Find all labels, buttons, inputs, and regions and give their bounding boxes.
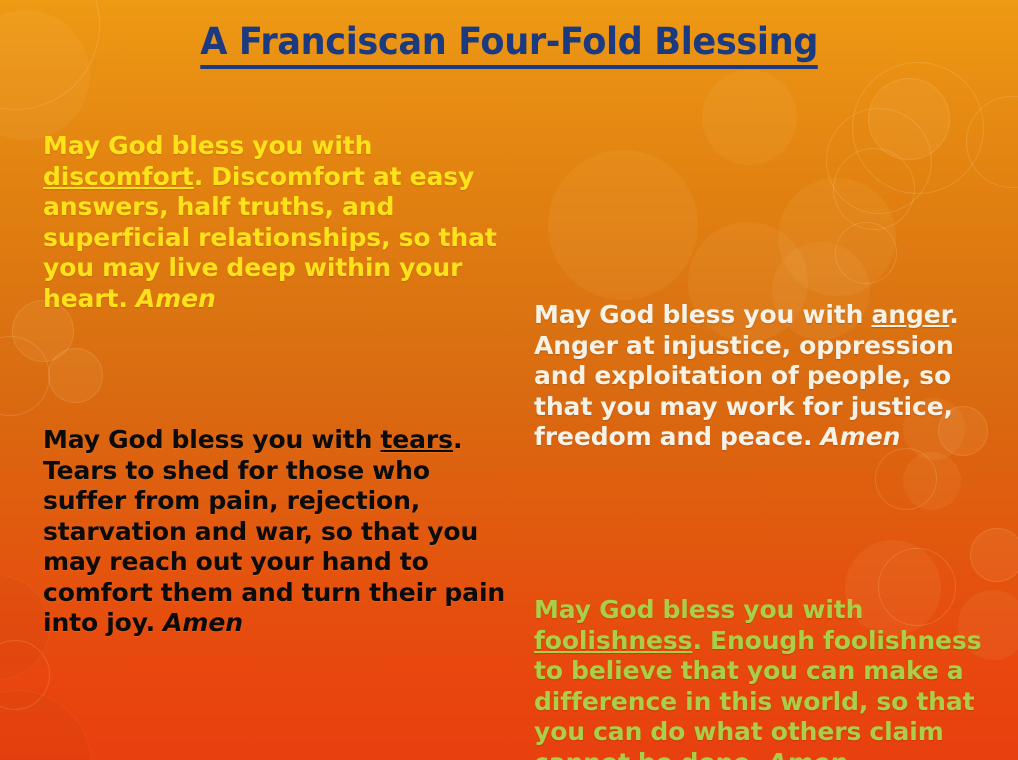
blessing-lead: May God bless you with [534,300,871,329]
page-title: A Franciscan Four-Fold Blessing [0,20,1018,69]
bubble-circle [48,348,103,403]
bubble-circle [0,336,50,416]
blessing-anger: May God bless you with anger. Anger at i… [534,300,1004,453]
blessing-amen: Amen [768,748,848,760]
bubble-circle [903,452,961,510]
bubble-circle [0,640,50,710]
page-title-text: A Franciscan Four-Fold Blessing [200,20,818,69]
bubble-circle [852,62,984,194]
blessing-tears: May God bless you with tears. Tears to s… [43,425,513,639]
blessing-body: . Tears to shed for those who suffer fro… [43,425,505,637]
blessing-foolishness: May God bless you with foolishness. Enou… [534,595,1012,760]
bubble-circle [868,78,950,160]
bubble-circle [875,448,937,510]
bubble-circle [970,528,1018,582]
bubble-circle [548,150,698,300]
blessing-lead: May God bless you with [43,425,380,454]
bubble-circle [835,222,897,284]
bubble-circle [778,178,896,296]
bubble-circle [833,148,915,230]
blessing-lead: May God bless you with [43,131,372,160]
blessing-lead: May God bless you with [534,595,863,624]
bubble-circle [826,108,932,214]
blessing-amen: Amen [163,608,243,637]
blessing-keyword: foolishness [534,626,692,655]
blessing-discomfort: May God bless you with discomfort. Disco… [43,131,505,314]
bubble-circle [702,70,797,165]
blessing-keyword: anger [871,300,949,329]
blessing-keyword: discomfort [43,162,194,191]
blessing-keyword: tears [380,425,453,454]
blessing-amen: Amen [136,284,216,313]
blessing-amen: Amen [821,422,901,451]
slide-canvas: A Franciscan Four-Fold Blessing May God … [0,0,1018,760]
bubble-circle [966,96,1018,188]
bubble-circle [0,690,92,760]
